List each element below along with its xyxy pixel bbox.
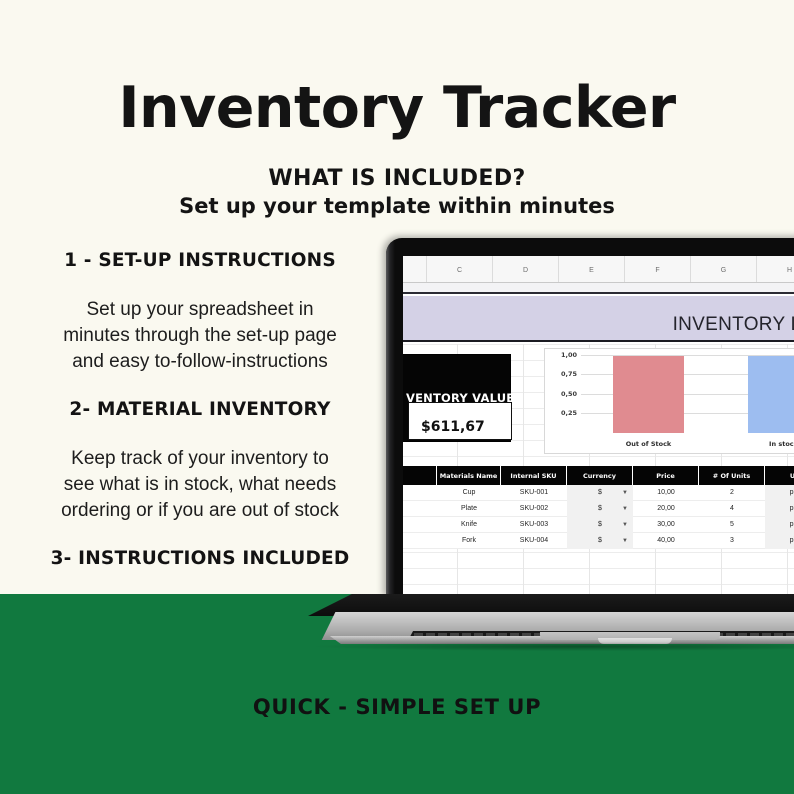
column-header-f[interactable]: F bbox=[625, 256, 691, 282]
table-header-unit: Unit bbox=[765, 466, 794, 485]
cell-price[interactable]: 40,00 bbox=[633, 533, 699, 549]
chevron-down-icon[interactable]: ▼ bbox=[622, 506, 628, 512]
chart-y-tick-label: 0,75 bbox=[561, 370, 577, 378]
subtitle-setup-minutes: Set up your template within minutes bbox=[0, 194, 794, 218]
table-header-materials-name: Materials Name bbox=[437, 466, 501, 485]
chevron-down-icon[interactable]: ▼ bbox=[622, 538, 628, 544]
cell-units[interactable]: 2 bbox=[699, 485, 765, 501]
cell-price[interactable]: 20,00 bbox=[633, 501, 699, 517]
feature-body-2-line-2: see what is in stock, what needs bbox=[14, 472, 386, 498]
row-gutter[interactable] bbox=[403, 485, 437, 501]
cell-price[interactable]: 30,00 bbox=[633, 517, 699, 533]
laptop-mockup: C D E F G H INVENTORY LIST VENTORY VALUE bbox=[386, 238, 794, 658]
table-row[interactable]: ForkSKU-004$▼40,003piece▼ bbox=[403, 533, 794, 549]
column-header-e[interactable]: E bbox=[559, 256, 625, 282]
row-gutter[interactable] bbox=[403, 501, 437, 517]
inventory-value-amount: $611,67 bbox=[421, 419, 485, 435]
cell-units[interactable]: 4 bbox=[699, 501, 765, 517]
cell-internal-sku[interactable]: SKU-003 bbox=[501, 517, 567, 533]
cell-currency[interactable]: $▼ bbox=[567, 517, 633, 533]
cell-internal-sku[interactable]: SKU-002 bbox=[501, 501, 567, 517]
column-header-c[interactable]: C bbox=[427, 256, 493, 282]
feature-body-2-line-1: Keep track of your inventory to bbox=[14, 446, 386, 472]
poster-canvas: Inventory Tracker WHAT IS INCLUDED? Set … bbox=[0, 0, 794, 794]
feature-list: 1 - SET-UP INSTRUCTIONS Set up your spre… bbox=[14, 250, 386, 569]
table-row[interactable]: PlateSKU-002$▼20,004piece▼ bbox=[403, 501, 794, 517]
table-row[interactable]: KnifeSKU-003$▼30,005piece▼ bbox=[403, 517, 794, 533]
cell-unit[interactable]: piece▼ bbox=[765, 485, 794, 501]
chart-y-tick-label: 0,25 bbox=[561, 409, 577, 417]
spreadsheet-column-headers[interactable]: C D E F G H bbox=[403, 256, 794, 283]
stock-status-bar-chart[interactable]: 1,000,750,500,250,00 Out of StockIn stoc… bbox=[544, 348, 794, 454]
cell-currency[interactable]: $▼ bbox=[567, 485, 633, 501]
cell-currency[interactable]: $▼ bbox=[567, 533, 633, 549]
column-header-gutter bbox=[403, 256, 427, 282]
cell-materials-name[interactable]: Plate bbox=[437, 501, 501, 517]
worksheet-body[interactable]: VENTORY VALUE $611,67 1,000,750,500,250,… bbox=[403, 344, 794, 598]
cell-internal-sku[interactable]: SKU-001 bbox=[501, 485, 567, 501]
inventory-list-banner: INVENTORY LIST bbox=[403, 296, 794, 342]
cell-units[interactable]: 5 bbox=[699, 517, 765, 533]
inventory-value-box: $611,67 bbox=[408, 402, 512, 440]
inventory-table[interactable]: Materials Name Internal SKU Currency Pri… bbox=[403, 466, 794, 549]
column-header-g[interactable]: G bbox=[691, 256, 757, 282]
chart-category-label: In stock bbox=[716, 440, 794, 448]
feature-heading-3: 3- INSTRUCTIONS INCLUDED bbox=[14, 548, 386, 569]
cell-materials-name[interactable]: Cup bbox=[437, 485, 501, 501]
cell-materials-name[interactable]: Fork bbox=[437, 533, 501, 549]
chart-bar[interactable] bbox=[748, 356, 794, 433]
cell-unit[interactable]: piece▼ bbox=[765, 517, 794, 533]
chart-y-tick-label: 1,00 bbox=[561, 351, 577, 359]
chevron-down-icon[interactable]: ▼ bbox=[622, 490, 628, 496]
cell-price[interactable]: 10,00 bbox=[633, 485, 699, 501]
footer-caption: QUICK - SIMPLE SET UP bbox=[0, 695, 794, 719]
inventory-table-header-row: Materials Name Internal SKU Currency Pri… bbox=[403, 466, 794, 485]
laptop-base bbox=[308, 594, 794, 646]
laptop-lid: C D E F G H INVENTORY LIST VENTORY VALUE bbox=[386, 238, 794, 598]
cell-materials-name[interactable]: Knife bbox=[437, 517, 501, 533]
chart-category-label: Out of Stock bbox=[581, 440, 716, 448]
table-header-gutter bbox=[403, 466, 437, 485]
feature-body-2-line-3: ordering or if you are out of stock bbox=[14, 498, 386, 524]
feature-body-1-line-1: Set up your spreadsheet in bbox=[14, 297, 386, 323]
inventory-list-title: INVENTORY LIST bbox=[673, 314, 794, 336]
feature-body-1-line-3: and easy to-follow-instructions bbox=[14, 349, 386, 375]
feature-body-1: Set up your spreadsheet in minutes throu… bbox=[14, 297, 386, 375]
feature-heading-1: 1 - SET-UP INSTRUCTIONS bbox=[14, 250, 386, 271]
page-title: Inventory Tracker bbox=[0, 76, 794, 140]
row-gutter[interactable] bbox=[403, 533, 437, 549]
spreadsheet-spacer-row bbox=[403, 283, 794, 294]
laptop-screen: C D E F G H INVENTORY LIST VENTORY VALUE bbox=[403, 256, 794, 598]
table-row[interactable]: CupSKU-001$▼10,002piece▼ bbox=[403, 485, 794, 501]
feature-body-2: Keep track of your inventory to see what… bbox=[14, 446, 386, 524]
column-header-d[interactable]: D bbox=[493, 256, 559, 282]
chart-y-tick-label: 0,50 bbox=[561, 390, 577, 398]
column-header-h[interactable]: H bbox=[757, 256, 794, 282]
chart-plot-area: 1,000,750,500,250,00 bbox=[581, 356, 794, 433]
chart-bar[interactable] bbox=[613, 356, 683, 433]
cell-units[interactable]: 3 bbox=[699, 533, 765, 549]
feature-body-1-line-2: minutes through the set-up page bbox=[14, 323, 386, 349]
feature-heading-2: 2- MATERIAL INVENTORY bbox=[14, 399, 386, 420]
row-gutter[interactable] bbox=[403, 517, 437, 533]
table-header-currency: Currency bbox=[567, 466, 633, 485]
cell-currency[interactable]: $▼ bbox=[567, 501, 633, 517]
table-header-units: # Of Units bbox=[699, 466, 765, 485]
chevron-down-icon[interactable]: ▼ bbox=[622, 522, 628, 528]
laptop-shadow bbox=[316, 642, 794, 651]
table-header-price: Price bbox=[633, 466, 699, 485]
cell-internal-sku[interactable]: SKU-004 bbox=[501, 533, 567, 549]
cell-unit[interactable]: piece▼ bbox=[765, 501, 794, 517]
table-header-internal-sku: Internal SKU bbox=[501, 466, 567, 485]
cell-unit[interactable]: piece▼ bbox=[765, 533, 794, 549]
inventory-value-card: VENTORY VALUE $611,67 bbox=[403, 354, 511, 442]
subtitle-what-is-included: WHAT IS INCLUDED? bbox=[0, 166, 794, 191]
